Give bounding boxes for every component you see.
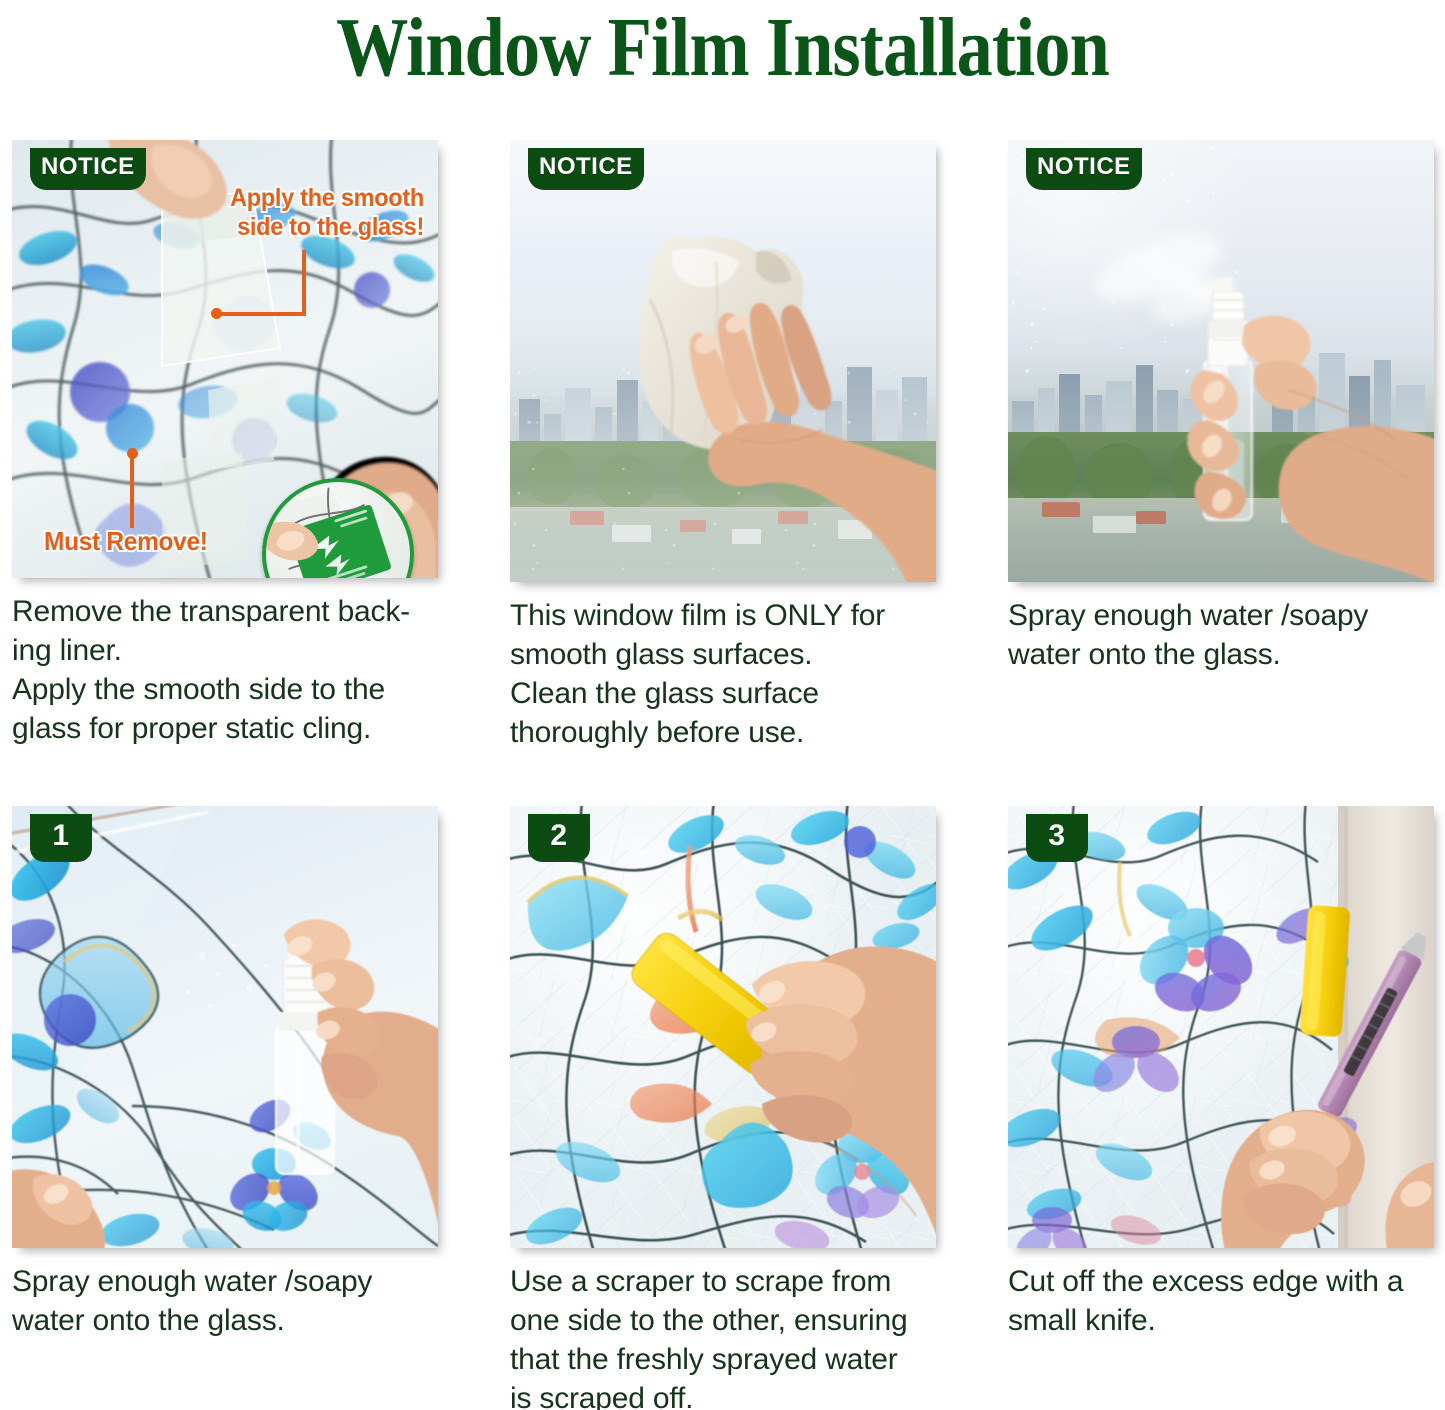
film-peel-spray-artwork bbox=[12, 806, 438, 1248]
caption-step-notice-1: Remove the transparent back- ing liner. … bbox=[12, 592, 438, 748]
leader-line-vertical-1 bbox=[302, 250, 306, 316]
hand-with-cloth-artwork bbox=[510, 140, 936, 582]
caption-step-notice-3: Spray enough water /soapy water onto the… bbox=[1008, 596, 1434, 674]
badge-notice: NOTICE bbox=[1026, 148, 1142, 190]
top-row: NOTICE Apply the smooth side to the glas… bbox=[12, 140, 1434, 752]
caption-step-2: Use a scraper to scrape from one side to… bbox=[510, 1262, 936, 1410]
photo-clean-glass: NOTICE bbox=[510, 140, 936, 582]
magnifier-inset bbox=[262, 478, 414, 578]
badge-step-number: 1 bbox=[30, 814, 92, 862]
badge-step-number: 3 bbox=[1026, 814, 1088, 862]
spray-bottle-artwork bbox=[1008, 140, 1434, 582]
photo-spray-water: NOTICE bbox=[1008, 140, 1434, 582]
photo-step-3-cut-edge: 3 bbox=[1008, 806, 1434, 1248]
infographic-page: Window Film Installation bbox=[0, 0, 1445, 1410]
annotation-apply-smooth-side: Apply the smooth side to the glass! bbox=[203, 184, 424, 242]
annotation-must-remove: Must Remove! bbox=[44, 527, 208, 556]
photo-step-2-scrape: 2 bbox=[510, 806, 936, 1248]
badge-notice: NOTICE bbox=[30, 148, 146, 190]
badge-notice: NOTICE bbox=[528, 148, 644, 190]
knife-trim-artwork bbox=[1008, 806, 1434, 1248]
bottom-row: 1 Spray enough water /soapy water onto t… bbox=[12, 806, 1434, 1410]
caption-step-1: Spray enough water /soapy water onto the… bbox=[12, 1262, 438, 1340]
leader-dot-1 bbox=[211, 308, 222, 319]
leader-line-horizontal-1 bbox=[218, 312, 306, 316]
step-card-2: 2 Use a scraper to scrape from one side … bbox=[510, 806, 936, 1410]
caption-step-3: Cut off the excess edge with a small kni… bbox=[1008, 1262, 1434, 1340]
photo-step-1-spray: 1 bbox=[12, 806, 438, 1248]
badge-step-number: 2 bbox=[528, 814, 590, 862]
step-card-3: 3 Cut off the excess edge with a small k… bbox=[1008, 806, 1434, 1410]
step-card-notice-3: NOTICE Spray enough water /soapy water o… bbox=[1008, 140, 1434, 752]
step-card-1: 1 Spray enough water /soapy water onto t… bbox=[12, 806, 438, 1410]
leader-line-vertical-2 bbox=[130, 454, 134, 528]
caption-step-notice-2: This window film is ONLY for smooth glas… bbox=[510, 596, 936, 752]
photo-remove-liner: NOTICE Apply the smooth side to the glas… bbox=[12, 140, 438, 578]
page-title: Window Film Installation bbox=[101, 2, 1344, 94]
leader-dot-2 bbox=[127, 448, 138, 459]
scraper-artwork bbox=[510, 806, 936, 1248]
step-card-notice-1: NOTICE Apply the smooth side to the glas… bbox=[12, 140, 438, 752]
step-card-notice-2: NOTICE This window film is ONLY for smoo… bbox=[510, 140, 936, 752]
